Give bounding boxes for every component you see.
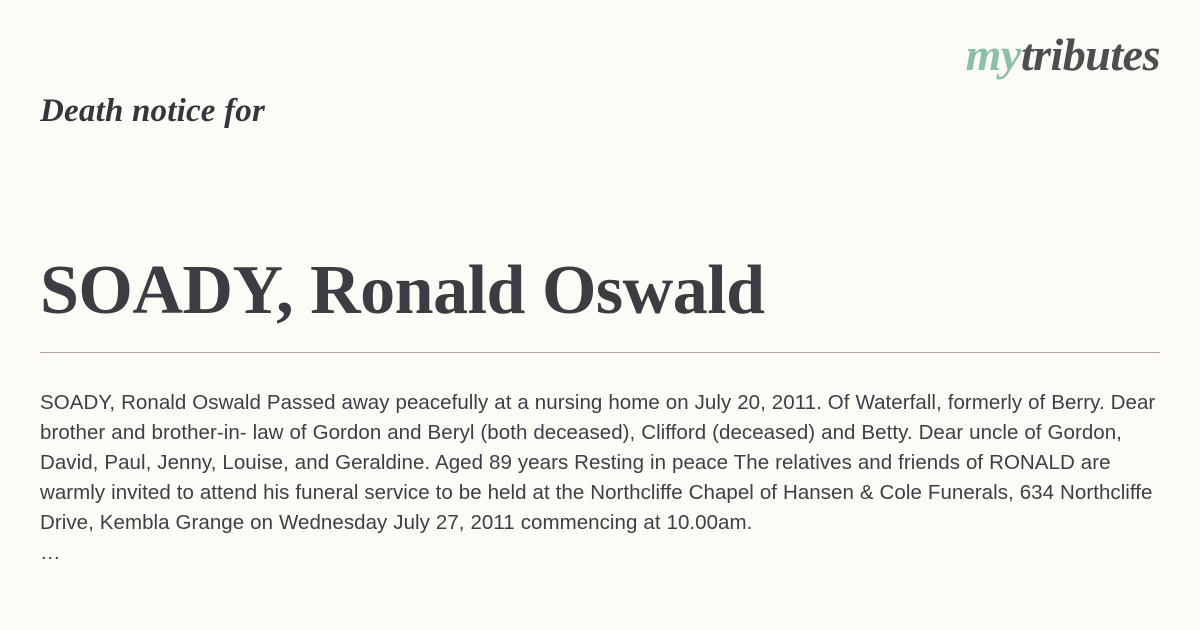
eyebrow-label: Death notice for <box>40 90 265 132</box>
notice-body-text: SOADY, Ronald Oswald Passed away peacefu… <box>40 388 1162 568</box>
death-notice-card: mytributes Death notice for SOADY, Ronal… <box>0 0 1200 630</box>
logo-my-text: my <box>966 29 1021 80</box>
page-title: SOADY, Ronald Oswald <box>40 249 1160 333</box>
horizontal-divider <box>40 352 1160 353</box>
truncation-ellipsis: … <box>40 538 1162 568</box>
mytributes-logo[interactable]: mytributes <box>966 32 1160 78</box>
notice-body-paragraph: SOADY, Ronald Oswald Passed away peacefu… <box>40 391 1155 534</box>
logo-tributes-text: tributes <box>1021 29 1160 80</box>
